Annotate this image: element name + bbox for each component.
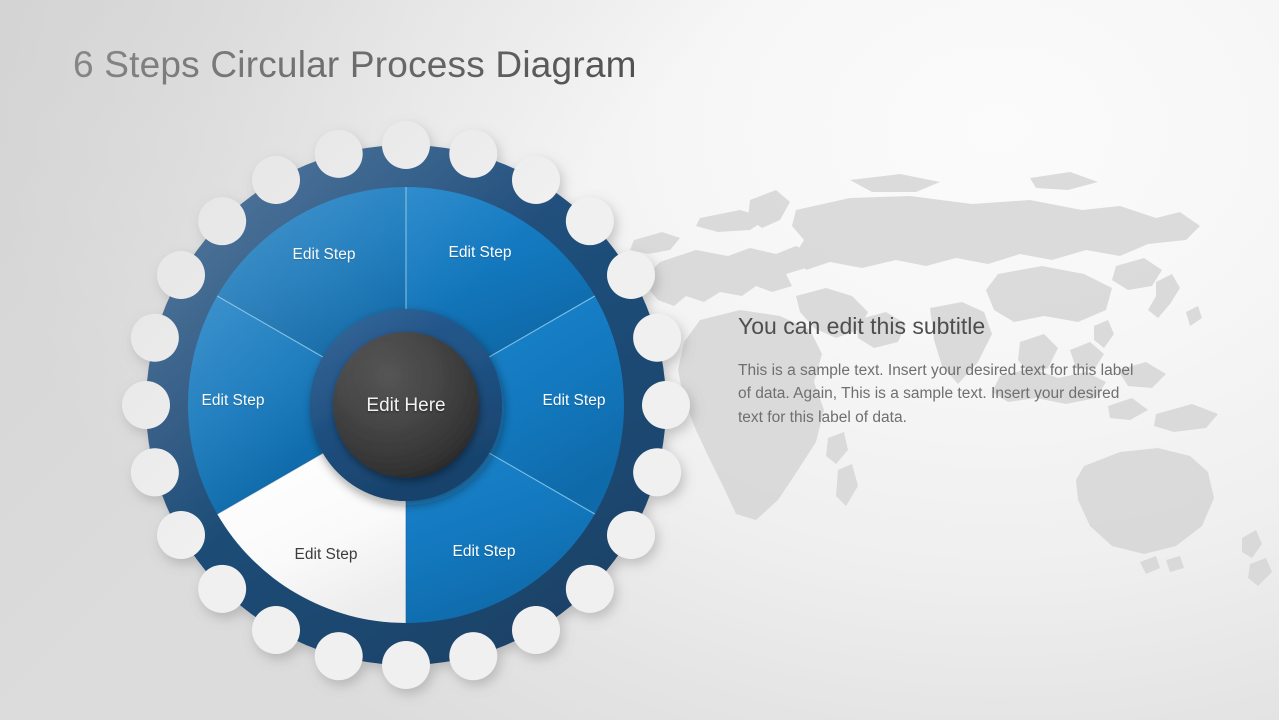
step-label-6[interactable]: Edit Step xyxy=(202,392,265,410)
slide-title: 6 Steps Circular Process Diagram xyxy=(73,44,637,86)
step-label-2[interactable]: Edit Step xyxy=(449,244,512,262)
slide-canvas: 6 Steps Circular Process Diagram xyxy=(0,0,1279,720)
body-text[interactable]: This is a sample text. Insert your desir… xyxy=(738,359,1138,430)
step-label-5[interactable]: Edit Step xyxy=(295,546,358,564)
subtitle[interactable]: You can edit this subtitle xyxy=(738,312,1148,341)
step-label-1[interactable]: Edit Step xyxy=(293,246,356,264)
copy-block: You can edit this subtitle This is a sam… xyxy=(738,312,1148,429)
step-label-3[interactable]: Edit Step xyxy=(543,392,606,410)
hub-label[interactable]: Edit Here xyxy=(366,395,445,417)
step-label-4[interactable]: Edit Step xyxy=(453,543,516,561)
